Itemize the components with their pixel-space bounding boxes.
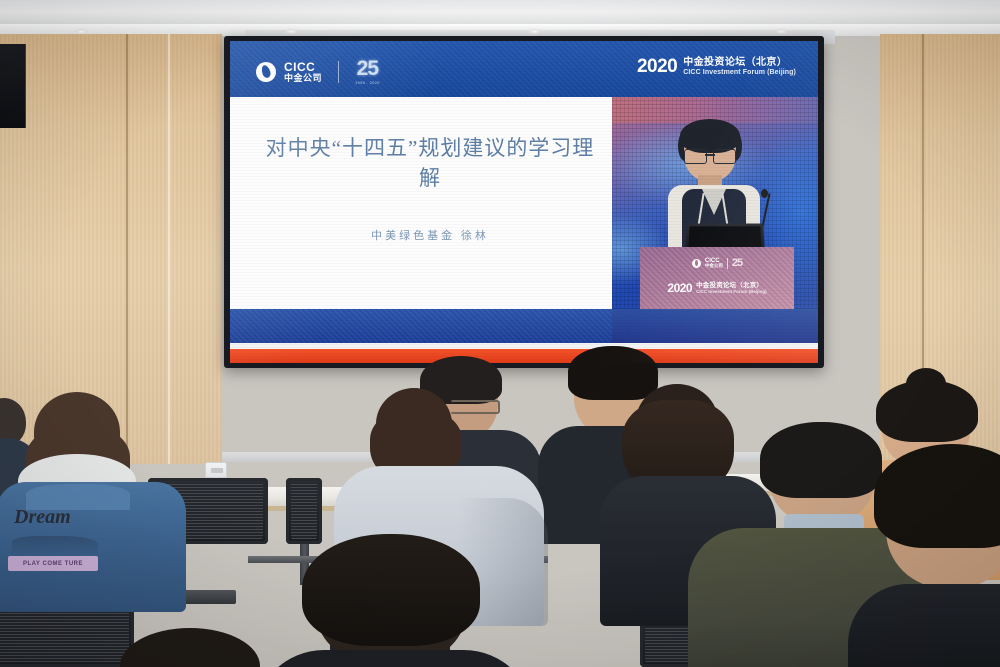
person-hair (874, 444, 1000, 548)
forum-name-cn: 中金投资论坛（北京） (683, 57, 796, 69)
podium-forum-en: CICC Investment Forum (Beijing) (696, 289, 767, 294)
slide-footer-blue-band-right (612, 309, 818, 343)
person-torso (254, 650, 534, 667)
presenter-hair (680, 119, 740, 153)
podium-anniversary: 25 (732, 257, 742, 269)
projection-screen: CICC 中金公司 25 1995 - 2020 2020 中金投资论坛（北京）… (230, 41, 818, 363)
audience-person-front-center (268, 546, 518, 667)
podium-logo: CICC 中金公司 25 (640, 257, 794, 269)
jacket-landscape-embroidery (12, 536, 98, 556)
downlight (528, 29, 541, 34)
podium-logo-divider (727, 258, 728, 269)
cicc-wordmark: CICC 中金公司 (284, 61, 322, 83)
audience-person-foreground-right (858, 460, 1000, 667)
anniversary-badge: 25 1995 - 2020 (355, 58, 380, 85)
cicc-logo: CICC 中金公司 25 1995 - 2020 (256, 58, 380, 85)
podium-cicc-wordmark: CICC 中金公司 (705, 258, 723, 269)
projection-screen-frame: CICC 中金公司 25 1995 - 2020 2020 中金投资论坛（北京）… (224, 36, 824, 368)
person-torso (848, 584, 1000, 667)
downlight (285, 29, 298, 34)
podium: CICC 中金公司 25 2020 中金投资论坛（北京） CICC Invest… (640, 247, 794, 309)
downlight (775, 29, 788, 34)
logo-divider (338, 61, 339, 83)
ceiling-speaker-icon (0, 44, 26, 128)
presenter-glasses-icon (684, 149, 736, 162)
cicc-logo-cn: 中金公司 (284, 74, 322, 83)
audience-person-bottom-left (120, 628, 270, 667)
podium-year: 2020 (667, 281, 692, 295)
slide-title: 对中央“十四五”规划建议的学习理解 (260, 133, 600, 194)
chair-mesh-back (291, 483, 317, 539)
chair-empty[interactable] (286, 478, 322, 544)
podium-logo-cn: 中金公司 (705, 264, 723, 269)
forum-name-en: CICC Investment Forum (Beijing) (683, 69, 796, 77)
person-hair (302, 534, 480, 646)
forum-year: 2020 (637, 56, 677, 78)
forum-branding: 2020 中金投资论坛（北京） CICC Investment Forum (B… (637, 56, 796, 78)
forum-name: 中金投资论坛（北京） CICC Investment Forum (Beijin… (683, 57, 796, 78)
anniversary-years: 1995 - 2020 (355, 81, 380, 85)
speaker-video-feed: CICC 中金公司 25 2020 中金投资论坛（北京） CICC Invest… (612, 97, 818, 309)
audience-person-denim: Dream PLAY COME TURE (8, 392, 198, 592)
podium-cicc-droplet-icon (692, 259, 701, 268)
wall-outlet[interactable] (205, 462, 227, 478)
microphone-head-icon (761, 189, 768, 198)
cicc-logo-en: CICC (284, 61, 322, 73)
podium-forum-cn: 中金投资论坛（北京） (696, 282, 767, 289)
cicc-droplet-icon (256, 62, 276, 82)
jacket-script-text: Dream (14, 506, 71, 529)
slide-header: CICC 中金公司 25 1995 - 2020 2020 中金投资论坛（北京）… (230, 41, 818, 97)
chair-footrest (180, 590, 236, 604)
person-head (120, 628, 260, 667)
conference-room-scene: CICC 中金公司 25 1995 - 2020 2020 中金投资论坛（北京）… (0, 0, 1000, 667)
podium-forum-branding: 2020 中金投资论坛（北京） CICC Investment Forum (B… (640, 281, 794, 295)
jacket-ribbon-patch: PLAY COME TURE (8, 556, 98, 571)
anniversary-number: 25 (357, 58, 378, 79)
slide-subtitle: 中美绿色基金 徐林 (260, 227, 600, 243)
